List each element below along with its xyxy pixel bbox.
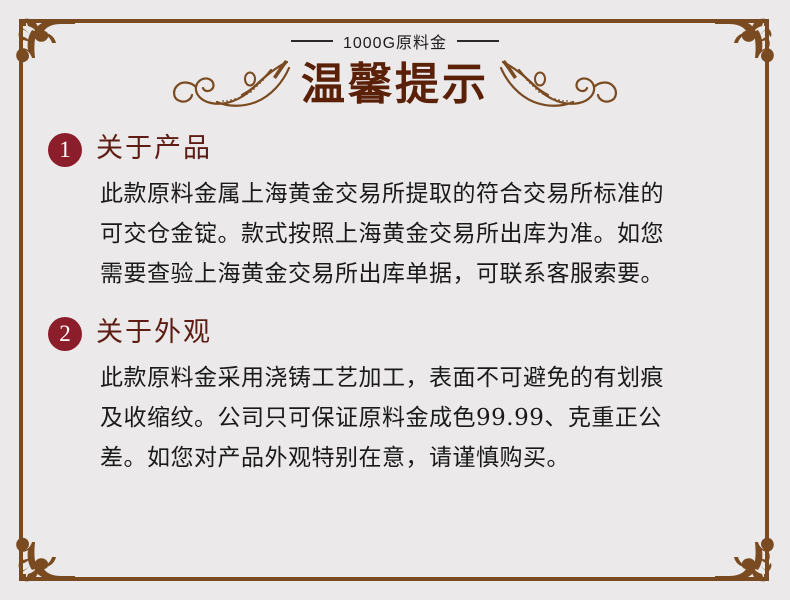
section-paragraph: 此款原料金采用浇铸工艺加工，表面不可避免的有划痕 及收缩纹。公司只可保证原料金成…	[100, 358, 748, 478]
notice-section-product: 1 关于产品 此款原料金属上海黄金交易所提取的符合交易所标准的 可交仓金锭。款式…	[48, 132, 748, 294]
title-row: 温馨提示	[0, 54, 790, 116]
corner-ornament-bottom-right	[714, 524, 776, 586]
banner-header: 1000G原料金	[0, 30, 790, 116]
flourish-swirl-icon-right	[495, 56, 623, 114]
corner-ornament-bottom-left	[14, 524, 76, 586]
promo-banner: 1000G原料金	[0, 0, 790, 600]
paragraph-line: 此款原料金采用浇铸工艺加工，表面不可避免的有划痕	[100, 358, 748, 398]
section-number-badge: 1	[48, 133, 82, 167]
paragraph-line: 此款原料金属上海黄金交易所提取的符合交易所标准的	[100, 174, 748, 214]
eyebrow-rule-left	[291, 40, 333, 42]
paragraph-line: 需要查验上海黄金交易所出库单据，可联系客服索要。	[100, 254, 748, 294]
page-title: 温馨提示	[301, 63, 489, 107]
paragraph-line: 差。如您对产品外观特别在意，请谨慎购买。	[100, 438, 748, 478]
notice-content: 1 关于产品 此款原料金属上海黄金交易所提取的符合交易所标准的 可交仓金锭。款式…	[48, 132, 748, 500]
section-paragraph: 此款原料金属上海黄金交易所提取的符合交易所标准的 可交仓金锭。款式按照上海黄金交…	[100, 174, 748, 294]
eyebrow-rule-right	[457, 40, 499, 42]
eyebrow-label: 1000G原料金	[343, 29, 447, 53]
paragraph-line: 及收缩纹。公司只可保证原料金成色99.99、克重正公	[100, 398, 748, 438]
section-title: 关于产品	[96, 132, 212, 166]
eyebrow-row: 1000G原料金	[0, 30, 790, 52]
section-title: 关于外观	[96, 316, 212, 350]
flourish-swirl-icon-left	[167, 56, 295, 114]
paragraph-line: 可交仓金锭。款式按照上海黄金交易所出库为准。如您	[100, 214, 748, 254]
section-heading-row: 1 关于产品	[48, 132, 748, 172]
section-heading-row: 2 关于外观	[48, 316, 748, 356]
section-number-badge: 2	[48, 317, 82, 351]
notice-section-appearance: 2 关于外观 此款原料金采用浇铸工艺加工，表面不可避免的有划痕 及收缩纹。公司只…	[48, 316, 748, 478]
